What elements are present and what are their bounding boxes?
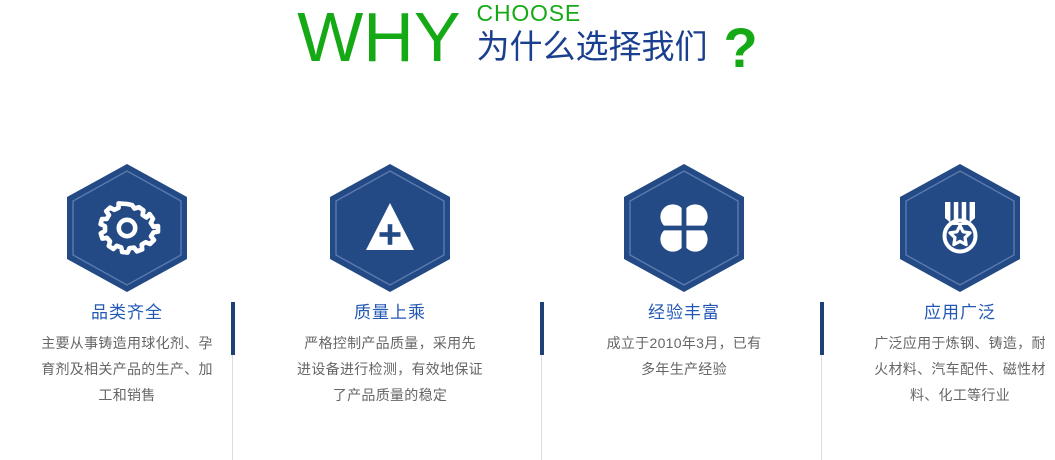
- card-title: 应用广泛: [828, 302, 1055, 324]
- header-question-mark: ?: [724, 20, 758, 76]
- divider-accent-segment: [540, 302, 544, 355]
- divider-line-segment: [821, 355, 822, 460]
- divider-accent-segment: [820, 302, 824, 355]
- clover-icon: [620, 162, 748, 294]
- divider-accent-segment: [231, 302, 235, 355]
- card-divider-3: [820, 302, 824, 460]
- feature-card-1[interactable]: 品类齐全 主要从事铸造用球化剂、孕 育剂及相关产品的生产、加 工和销售: [0, 150, 259, 416]
- header-why-text: WHY: [297, 2, 460, 72]
- card-desc-line: 严格控制产品质量，采用先: [258, 330, 522, 356]
- card-desc-line: 了产品质量的稳定: [258, 382, 522, 408]
- hexagon-badge-3: [620, 162, 748, 294]
- triangle-plus-icon: [326, 162, 454, 294]
- card-desc-line: 成立于2010年3月，已有: [552, 330, 816, 356]
- feature-cards-row: 品类齐全 主要从事铸造用球化剂、孕 育剂及相关产品的生产、加 工和销售 质量上乘: [0, 150, 1055, 416]
- card-desc-line: 料、化工等行业: [828, 382, 1055, 408]
- hexagon-badge-4: [896, 162, 1024, 294]
- card-divider-2: [540, 302, 544, 460]
- header-secondary-group: CHOOSE 为什么选择我们: [477, 0, 708, 66]
- card-title: 质量上乘: [258, 302, 522, 324]
- card-description: 成立于2010年3月，已有 多年生产经验: [552, 330, 816, 382]
- card-desc-line: 火材料、汽车配件、磁性材: [828, 356, 1055, 382]
- hexagon-badge-2: [326, 162, 454, 294]
- feature-card-3[interactable]: 经验丰富 成立于2010年3月，已有 多年生产经验: [552, 150, 816, 416]
- header-choose-text: CHOOSE: [477, 0, 708, 26]
- divider-line-segment: [232, 355, 233, 460]
- card-divider-1: [231, 302, 235, 460]
- card-desc-line: 工和销售: [0, 382, 259, 408]
- card-desc-line: 多年生产经验: [552, 356, 816, 382]
- card-title: 经验丰富: [552, 302, 816, 324]
- divider-line-segment: [541, 355, 542, 460]
- card-desc-line: 主要从事铸造用球化剂、孕: [0, 330, 259, 356]
- gear-icon: [63, 162, 191, 294]
- card-title: 品类齐全: [0, 302, 259, 324]
- feature-card-4[interactable]: 应用广泛 广泛应用于炼钢、铸造，耐 火材料、汽车配件、磁性材 料、化工等行业: [828, 150, 1055, 416]
- medal-icon: [896, 162, 1024, 294]
- card-desc-line: 广泛应用于炼钢、铸造，耐: [828, 330, 1055, 356]
- card-desc-line: 育剂及相关产品的生产、加: [0, 356, 259, 382]
- card-description: 主要从事铸造用球化剂、孕 育剂及相关产品的生产、加 工和销售: [0, 330, 259, 408]
- header-chinese-text: 为什么选择我们: [477, 28, 708, 66]
- card-description: 严格控制产品质量，采用先 进设备进行检测，有效地保证 了产品质量的稳定: [258, 330, 522, 408]
- card-description: 广泛应用于炼钢、铸造，耐 火材料、汽车配件、磁性材 料、化工等行业: [828, 330, 1055, 408]
- section-header: WHY CHOOSE 为什么选择我们 ?: [0, 0, 1055, 100]
- hexagon-badge-1: [63, 162, 191, 294]
- feature-card-2[interactable]: 质量上乘 严格控制产品质量，采用先 进设备进行检测，有效地保证 了产品质量的稳定: [258, 150, 522, 416]
- card-desc-line: 进设备进行检测，有效地保证: [258, 356, 522, 382]
- header-title-group: WHY CHOOSE 为什么选择我们 ?: [0, 0, 1055, 92]
